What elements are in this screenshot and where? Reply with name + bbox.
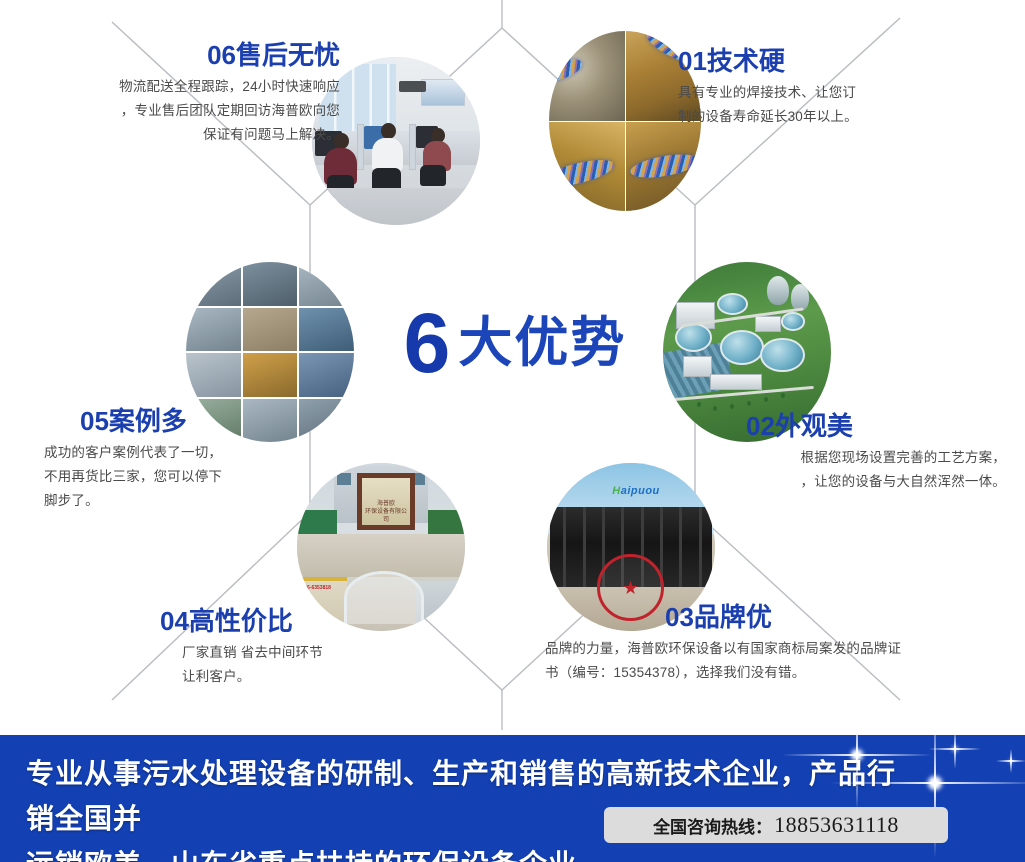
advantage-body-04-line2: 让利客户。 bbox=[182, 665, 500, 689]
advantage-body-06-line3: 保证有问题马上解决。 bbox=[20, 123, 340, 147]
hotline-box[interactable]: 全国咨询热线： 18853631118 bbox=[604, 807, 948, 843]
advantage-item-04: 04高性价比 厂家直销 省去中间环节 让利客户。 bbox=[160, 608, 500, 689]
advantage-body-01-line1: 具有专业的焊接技术、让您订 bbox=[678, 81, 998, 105]
logo-text: aipuou bbox=[621, 485, 660, 497]
advantage-item-01: 01技术硬 具有专业的焊接技术、让您订 制的设备寿命延长30年以上。 bbox=[678, 48, 998, 129]
advantage-body-04: 厂家直销 省去中间环节 让利客户。 bbox=[182, 641, 500, 688]
hotline-number: 18853631118 bbox=[774, 812, 899, 838]
advantage-body-06-line1: 物流配送全程跟踪，24小时快速响应 bbox=[20, 75, 340, 99]
advantage-body-04-line1: 厂家直销 省去中间环节 bbox=[182, 641, 500, 665]
advantage-body-01-line2: 制的设备寿命延长30年以上。 bbox=[678, 105, 998, 129]
advantage-body-02-line2: ，让您的设备与大自然浑然一体。 bbox=[690, 470, 1006, 494]
advantage-item-02: 02外观美 根据您现场设置完善的工艺方案， ，让您的设备与大自然浑然一体。 bbox=[690, 413, 1006, 494]
advantage-body-02: 根据您现场设置完善的工艺方案， ，让您的设备与大自然浑然一体。 bbox=[690, 446, 1006, 493]
advantage-heading-01: 01技术硬 bbox=[678, 48, 998, 75]
advantage-item-03: 03品牌优 品牌的力量，海普欧环保设备以有国家商标局案发的品牌证 书（编号：15… bbox=[545, 604, 1005, 685]
star-icon: ★ bbox=[623, 579, 639, 597]
advantage-body-03-line2: 书（编号：15354378），选择我们没有错。 bbox=[545, 661, 1005, 685]
advantage-item-05: 05案例多 成功的客户案例代表了一切， 不用再货比三家，您可以停下 脚步了。 bbox=[44, 408, 374, 512]
advantage-heading-05: 05案例多 bbox=[80, 408, 374, 435]
advantage-heading-03: 03品牌优 bbox=[665, 604, 1005, 631]
banner-line-2: 远销欧美，山东省重点扶持的环保设备企业。 bbox=[26, 842, 906, 862]
advantage-body-05-line3: 脚步了。 bbox=[44, 489, 374, 513]
advantage-body-06: 物流配送全程跟踪，24小时快速响应 ，专业售后团队定期回访海普欧向您 保证有问题… bbox=[20, 75, 340, 146]
advantage-heading-06: 06售后无忧 bbox=[20, 42, 340, 69]
advantage-heading-02: 02外观美 bbox=[746, 413, 1006, 440]
haipuou-logo: Haipuou bbox=[597, 480, 674, 502]
hotline-label: 全国咨询热线： bbox=[653, 813, 772, 838]
bottom-banner: 专业从事污水处理设备的研制、生产和销售的高新技术企业，产品行销全国并 远销欧美，… bbox=[0, 735, 1025, 862]
advantage-body-05-line2: 不用再货比三家，您可以停下 bbox=[44, 465, 374, 489]
advantage-body-01: 具有专业的焊接技术、让您订 制的设备寿命延长30年以上。 bbox=[678, 81, 998, 128]
advantage-body-05: 成功的客户案例代表了一切， 不用再货比三家，您可以停下 脚步了。 bbox=[44, 441, 374, 512]
advantage-body-03: 品牌的力量，海普欧环保设备以有国家商标局案发的品牌证 书（编号：15354378… bbox=[545, 637, 1005, 684]
advantage-body-02-line1: 根据您现场设置完善的工艺方案， bbox=[690, 446, 1006, 470]
logo-initial: H bbox=[612, 485, 620, 497]
advantage-item-06: 06售后无忧 物流配送全程跟踪，24小时快速响应 ，专业售后团队定期回访海普欧向… bbox=[20, 42, 340, 146]
infographic-canvas: 6 大优势 bbox=[0, 0, 1025, 862]
advantage-body-05-line1: 成功的客户案例代表了一切， bbox=[44, 441, 374, 465]
advantage-body-06-line2: ，专业售后团队定期回访海普欧向您 bbox=[20, 99, 340, 123]
advantage-body-03-line1: 品牌的力量，海普欧环保设备以有国家商标局案发的品牌证 bbox=[545, 637, 1005, 661]
advantage-heading-04: 04高性价比 bbox=[160, 608, 500, 635]
